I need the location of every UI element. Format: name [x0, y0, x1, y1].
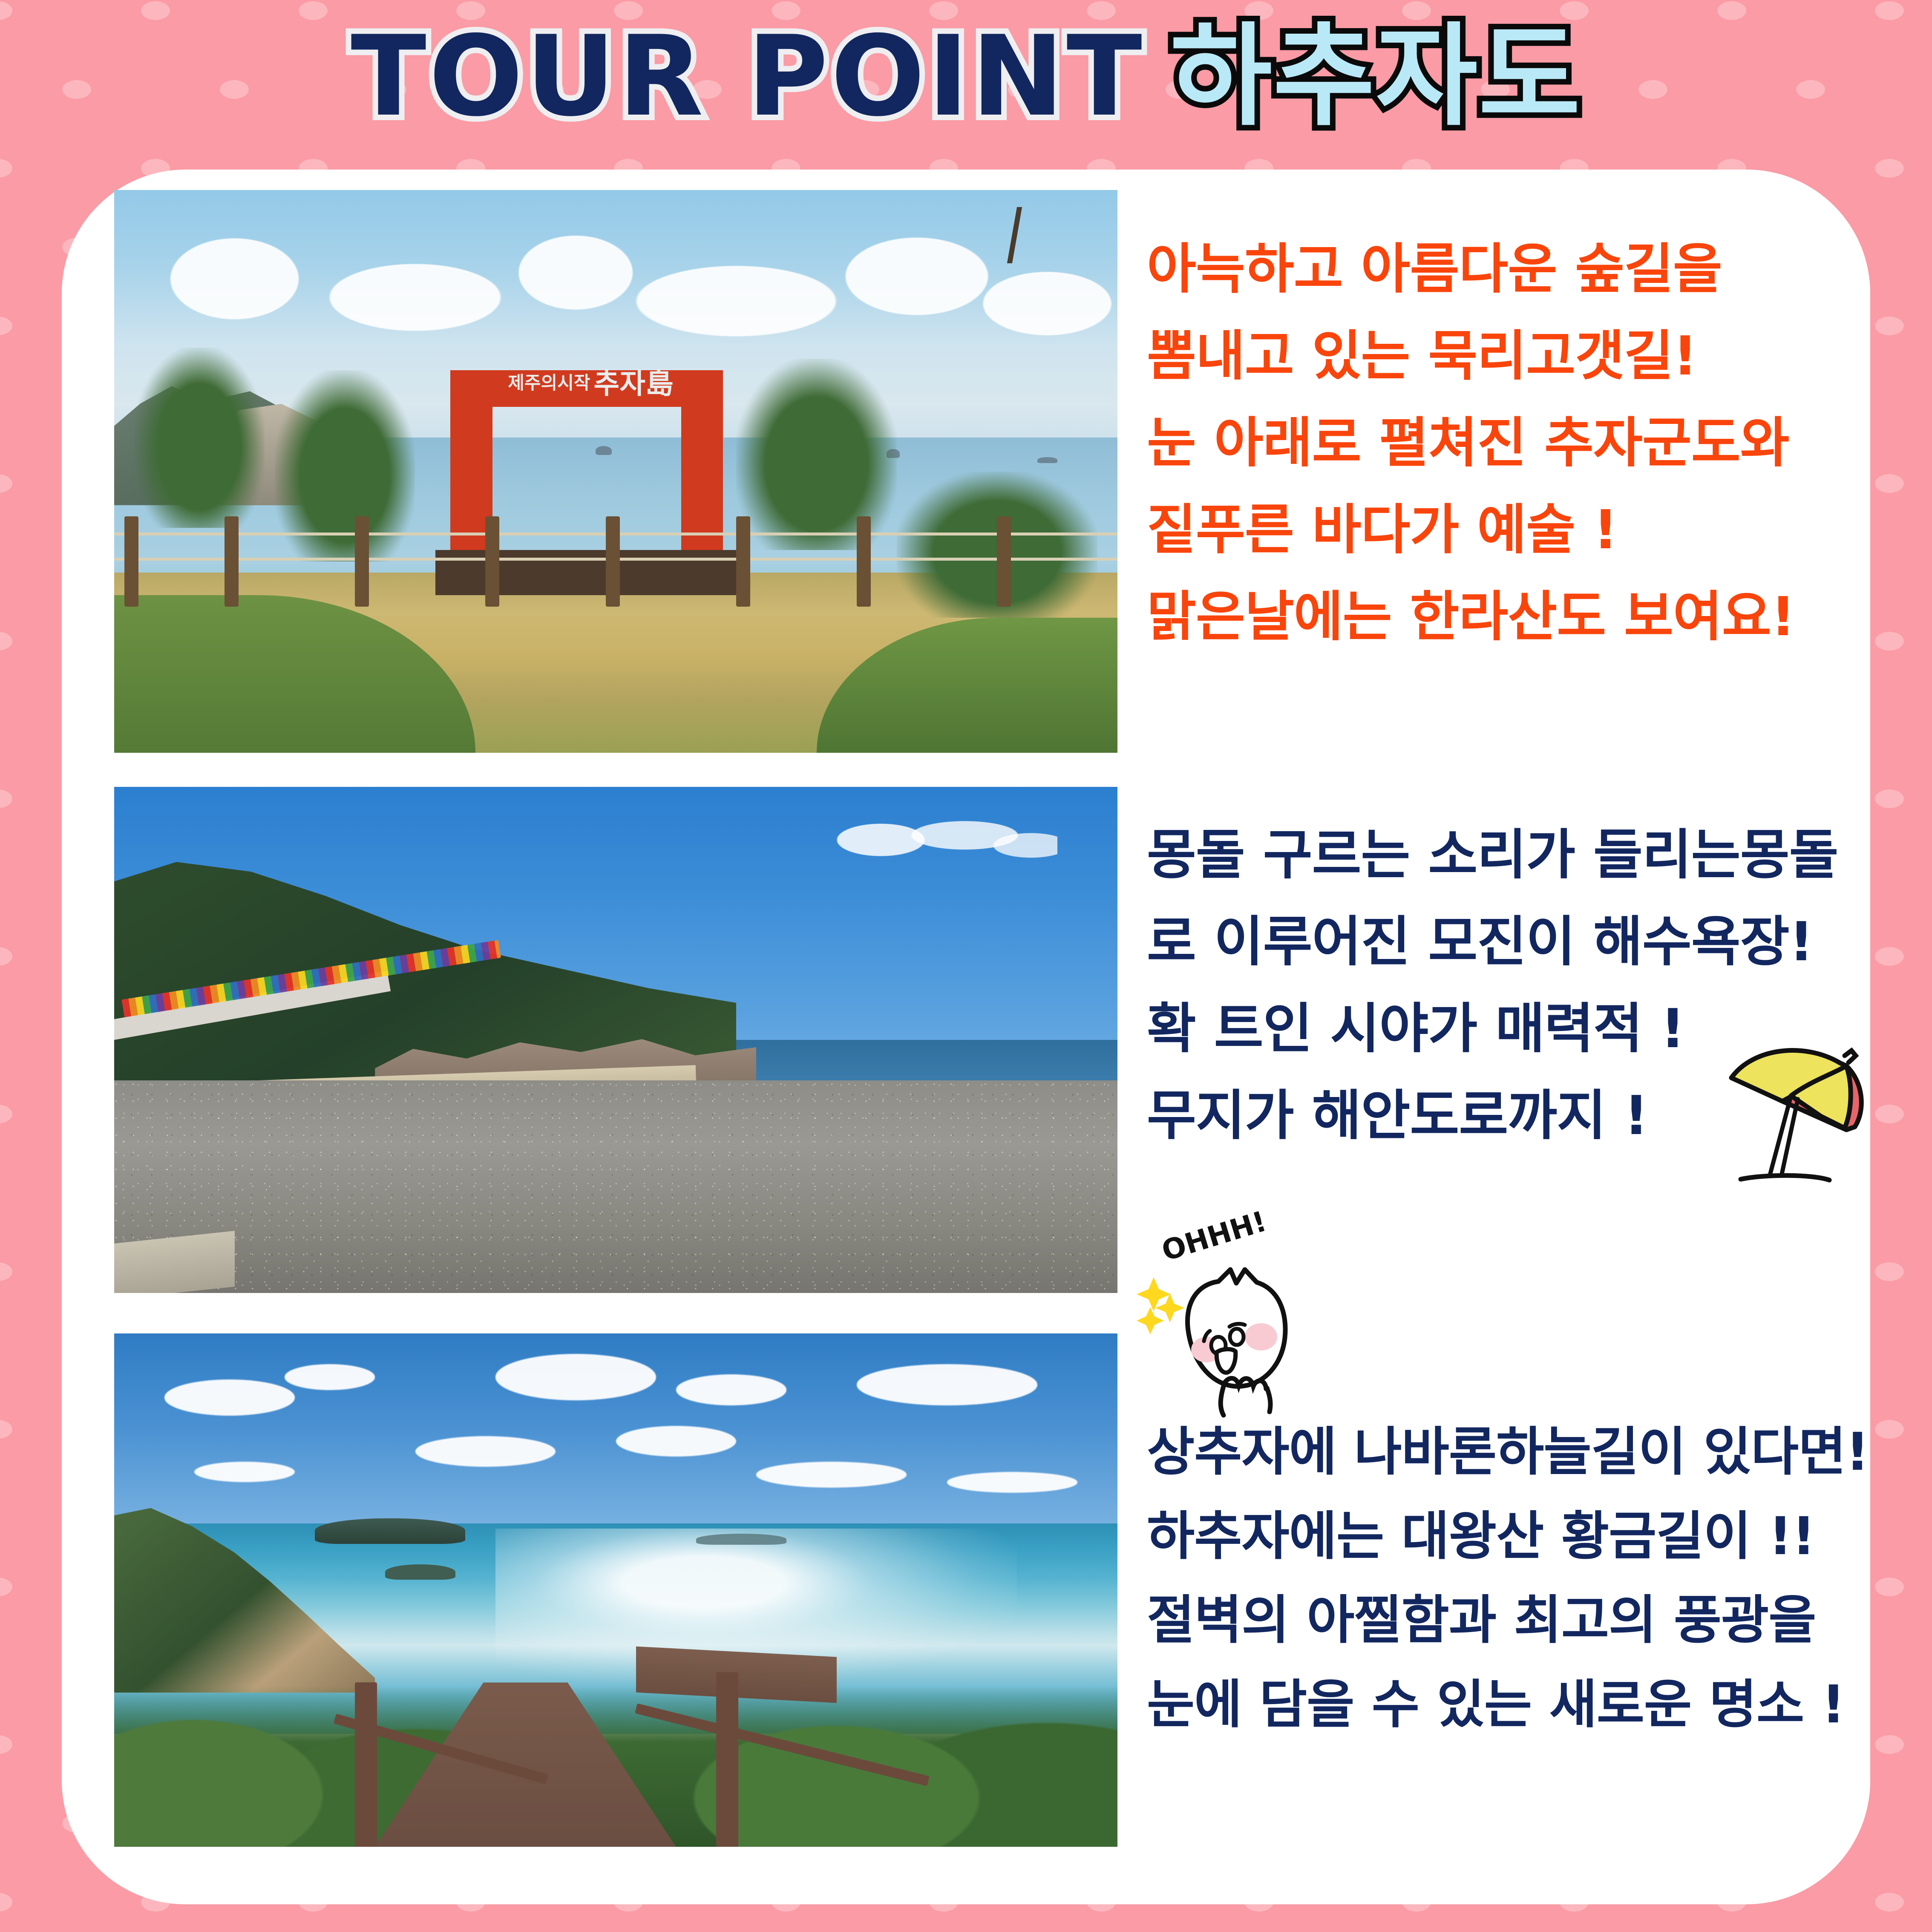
gate-sign-big-text: 추자島 [593, 361, 673, 402]
photo-chujado-gate: 제주의시작 추자島 [114, 190, 1117, 753]
page-header: TOUR POINT 하추자도 [0, 0, 1932, 153]
handrail-left [355, 1682, 377, 1847]
island-far [696, 1534, 786, 1545]
rope-fence [114, 516, 1117, 606]
text-line: 로 이루어진 모진이 해수욕장! [1147, 898, 1846, 985]
small-island-1 [596, 446, 612, 455]
sparkle-group [1137, 1277, 1184, 1334]
branch [937, 207, 1097, 263]
handrail-right [716, 1672, 738, 1847]
page-title-english: TOUR POINT [351, 21, 1145, 132]
page-title-korean: 하추자도 [1170, 21, 1581, 132]
clouds [837, 817, 1057, 863]
cat-cheek-right [1245, 1323, 1277, 1350]
text-line: 상추자에 나바론하늘길이 있다면! [1147, 1410, 1846, 1494]
island-small [385, 1564, 455, 1580]
beach-umbrella-icon [1719, 1031, 1872, 1184]
island-large [315, 1518, 465, 1544]
text-line: 뽐내고 있는 묵리고갯길! [1147, 313, 1846, 400]
pine-tree-left [134, 348, 265, 528]
cat-speech-text: OHHH! [1158, 1206, 1270, 1267]
photo-mojini-pebble-beach [114, 787, 1117, 1293]
text-line: 짙푸른 바다가 예술 ! [1147, 487, 1846, 573]
cat-mouth [1217, 1349, 1235, 1373]
small-island-3 [1037, 457, 1057, 463]
gate-sign-small-text: 제주의시작 [508, 369, 590, 394]
gate-sign-text: 제주의시작 추자島 [460, 362, 721, 401]
text-line: 눈에 담을 수 있는 새로운 명소 ! [1147, 1663, 1846, 1747]
text-block-mukrigogaetgil: 아늑하고 아름다운 숲길을 뽐내고 있는 묵리고갯길! 눈 아래로 펼쳐진 추자… [1147, 226, 1846, 661]
text-block-daewangsan: 상추자에 나바론하늘길이 있다면! 하추자에는 대왕산 황금길이 !! 절벽의 … [1147, 1410, 1846, 1747]
text-line: 맑은날에는 한라산도 보여요! [1147, 573, 1846, 660]
text-line: 눈 아래로 펼쳐진 추자군도와 [1147, 400, 1846, 487]
text-line: 하추자에는 대왕산 황금길이 !! [1147, 1494, 1846, 1579]
text-line: 아늑하고 아름다운 숲길을 [1147, 226, 1846, 313]
text-line: 몽돌 구르는 소리가 들리는몽돌 [1147, 812, 1846, 898]
photo-daewangsan-boardwalk [114, 1333, 1117, 1847]
pebble-beach [114, 1080, 1117, 1293]
cat-sticker: OHHH! [1129, 1206, 1385, 1419]
text-line: 절벽의 아찔함과 최고의 풍광을 [1147, 1578, 1846, 1663]
